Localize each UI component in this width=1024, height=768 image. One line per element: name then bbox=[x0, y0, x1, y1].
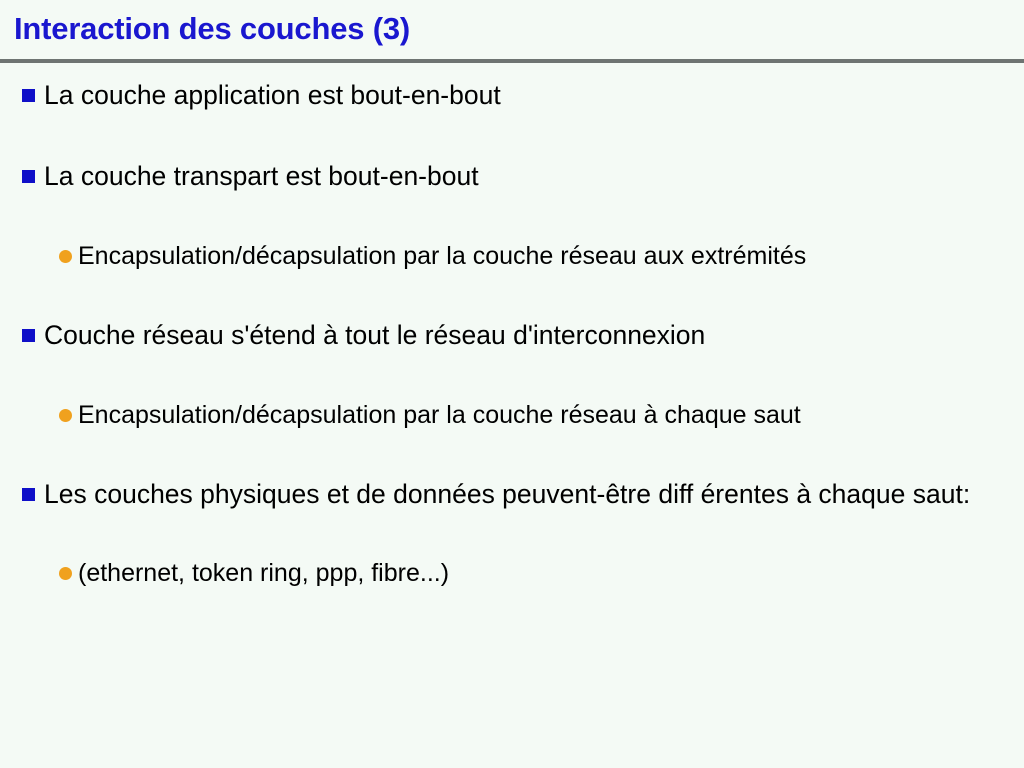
bullet-item-4: Couche réseau s'étend à tout le réseau d… bbox=[0, 316, 1024, 354]
bullet-item-6-label: Les couches physiques et de données peuv… bbox=[44, 475, 998, 513]
bullet-item-7-label: (ethernet, token ring, ppp, fibre...) bbox=[78, 555, 998, 591]
bullet-item-5-label: Encapsulation/décapsulation par la couch… bbox=[78, 397, 998, 433]
bullet-item-1-label: La couche application est bout-en-bout bbox=[44, 76, 998, 114]
bullet-item-7: (ethernet, token ring, ppp, fibre...) bbox=[0, 555, 1024, 591]
square-bullet-icon bbox=[22, 488, 35, 501]
bullet-item-3-label: Encapsulation/décapsulation par la couch… bbox=[78, 238, 998, 274]
round-bullet-icon bbox=[59, 567, 72, 580]
bullet-item-1: La couche application est bout-en-bout bbox=[0, 76, 1024, 114]
round-bullet-icon bbox=[59, 409, 72, 422]
page-title: Interaction des couches (3) bbox=[14, 12, 410, 46]
bullet-item-5: Encapsulation/décapsulation par la couch… bbox=[0, 397, 1024, 433]
bullet-item-4-label: Couche réseau s'étend à tout le réseau d… bbox=[44, 316, 998, 354]
bullet-item-2-label: La couche transpart est bout-en-bout bbox=[44, 157, 998, 195]
square-bullet-icon bbox=[22, 170, 35, 183]
slide: Interaction des couches (3) La couche ap… bbox=[0, 0, 1024, 768]
bullet-item-6: Les couches physiques et de données peuv… bbox=[0, 475, 1024, 513]
slide-body: La couche application est bout-en-bout L… bbox=[0, 68, 1024, 591]
bullet-item-2: La couche transpart est bout-en-bout bbox=[0, 157, 1024, 195]
title-divider bbox=[0, 59, 1024, 63]
square-bullet-icon bbox=[22, 329, 35, 342]
bullet-item-3: Encapsulation/décapsulation par la couch… bbox=[0, 238, 1024, 274]
square-bullet-icon bbox=[22, 89, 35, 102]
round-bullet-icon bbox=[59, 250, 72, 263]
